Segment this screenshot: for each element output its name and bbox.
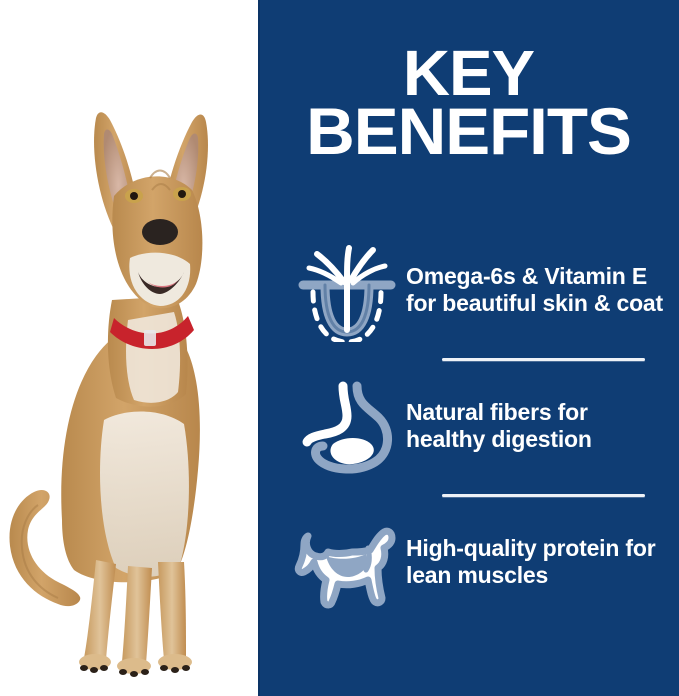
title-line-2: BENEFITS [254, 102, 679, 160]
benefit-label: High-quality protein for lean muscles [406, 535, 679, 589]
dog-nose [142, 219, 178, 245]
benefit-list: Omega-6s & Vitamin E for beautiful skin … [258, 222, 679, 630]
dog-photo [0, 0, 258, 696]
benefit-label: Natural fibers for healthy digestion [406, 399, 679, 453]
dog-chest [100, 411, 189, 576]
benefits-panel: KEY BENEFITS [258, 0, 679, 696]
benefit-label: Omega-6s & Vitamin E for beautiful skin … [406, 263, 679, 317]
page-title: KEY BENEFITS [254, 44, 679, 160]
benefit-item-digestion: Natural fibers for healthy digestion [258, 358, 679, 494]
benefit-item-skin-coat: Omega-6s & Vitamin E for beautiful skin … [258, 222, 679, 358]
hair-follicle-icon [288, 238, 406, 342]
product-photo-panel [0, 0, 258, 696]
collar-buckle [144, 330, 156, 346]
stomach-icon [288, 374, 406, 478]
key-benefits-panel: KEY BENEFITS [0, 0, 679, 696]
benefit-item-protein: High-quality protein for lean muscles [258, 494, 679, 630]
dog-muscle-icon [288, 510, 406, 614]
